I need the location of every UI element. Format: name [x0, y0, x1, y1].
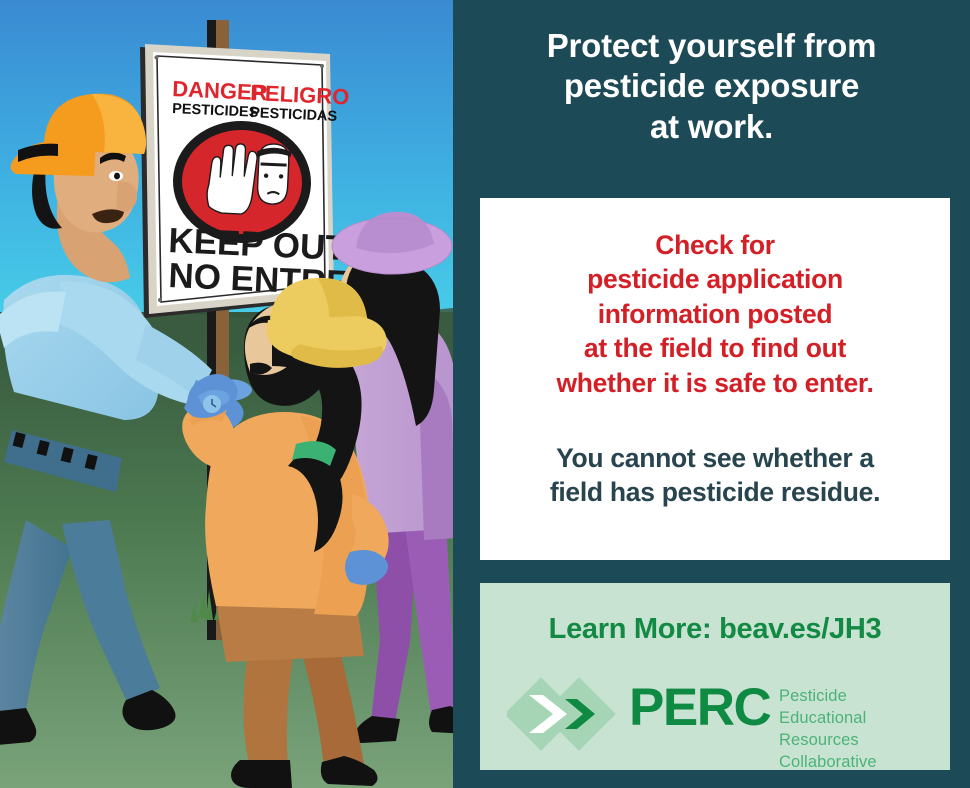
message-card: Check for pesticide application informat…: [480, 198, 950, 560]
learn-more-card: Learn More: beav.es/JH3 PERC Pesticide E…: [480, 583, 950, 770]
perc-tagline-line-1: Pesticide Educational: [779, 686, 927, 730]
headline-line-1: Protect yourself from: [463, 26, 960, 66]
message-card-primary-text: Check for pesticide application informat…: [480, 228, 950, 400]
primary-line-2: pesticide application: [480, 262, 950, 296]
pesticide-warning-sign: DANGER PESTICIDES PELIGRO PESTICIDAS: [140, 44, 350, 318]
perc-tagline-line-2: Resources Collaborative: [779, 730, 927, 774]
primary-line-4: at the field to find out: [480, 331, 950, 365]
perc-tagline: Pesticide Educational Resources Collabor…: [779, 686, 927, 774]
poster-root: DANGER PESTICIDES PELIGRO PESTICIDAS: [0, 0, 970, 788]
message-card-secondary-text: You cannot see whether a field has pesti…: [480, 441, 950, 510]
content-panel: Protect yourself from pesticide exposure…: [453, 0, 970, 788]
field-scene-illustration: DANGER PESTICIDES PELIGRO PESTICIDAS: [0, 0, 453, 788]
headline-line-3: at work.: [463, 107, 960, 147]
worker-face-icon: [255, 143, 292, 204]
primary-line-5: whether it is safe to enter.: [480, 366, 950, 400]
secondary-line-1: You cannot see whether a: [480, 441, 950, 475]
page-title: Protect yourself from pesticide exposure…: [463, 26, 960, 147]
primary-line-3: information posted: [480, 297, 950, 331]
headline-line-2: pesticide exposure: [463, 66, 960, 106]
perc-logo: PERC Pesticide Educational Resources Col…: [507, 667, 927, 759]
primary-line-1: Check for: [480, 228, 950, 262]
perc-diamond-icon: [507, 669, 623, 759]
learn-more-link[interactable]: Learn More: beav.es/JH3: [480, 613, 950, 646]
illustration-panel: DANGER PESTICIDES PELIGRO PESTICIDAS: [0, 0, 453, 788]
perc-wordmark: PERC: [629, 681, 770, 734]
secondary-line-2: field has pesticide residue.: [480, 475, 950, 509]
